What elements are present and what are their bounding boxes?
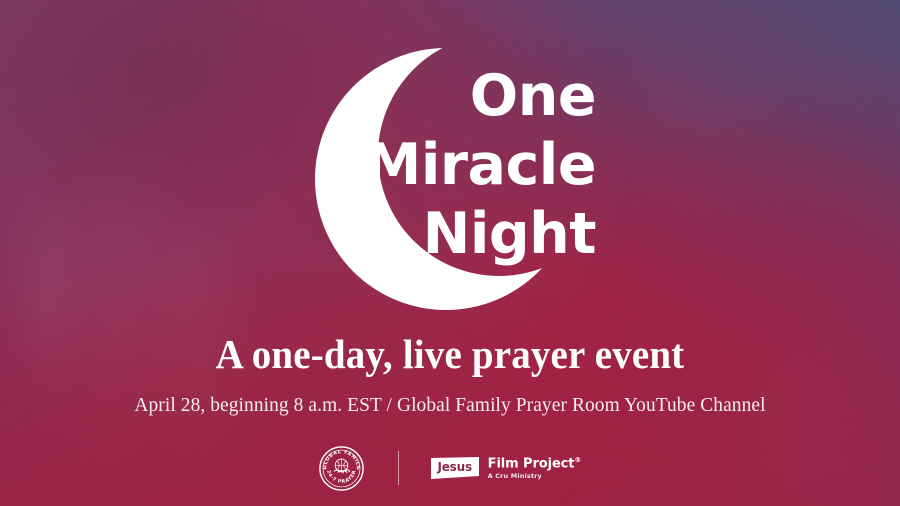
event-details-line: April 28, beginning 8 a.m. EST / Global … [14,392,887,418]
jfp-title-row: Film Project® [488,457,582,470]
jesus-wordmark: Jesus [431,460,479,474]
jfp-trademark-icon: ® [574,456,581,464]
jesus-flag-icon: Jesus [431,457,479,479]
jfp-subtitle: A Cru Ministry [488,473,582,480]
headline-line-2: Miracle [360,131,596,200]
jfp-title: Film Project [488,456,575,471]
logo-bar: GLOBAL FAMILY 24-7 PRAYER Jesus Film Pro… [0,444,900,492]
global-family-seal-icon: GLOBAL FAMILY 24-7 PRAYER [319,446,364,491]
poster-canvas: One Miracle Night A one-day, live prayer… [0,0,900,506]
jesus-film-project-logo-icon: Jesus Film Project® A Cru Ministry [431,457,582,480]
logo-divider [398,451,399,485]
headline-line-1: One [360,62,596,131]
headline: One Miracle Night [360,62,596,269]
tagline: A one-day, live prayer event [23,330,878,378]
headline-line-3: Night [360,200,596,269]
jesus-film-project-text: Film Project® A Cru Ministry [488,457,582,480]
